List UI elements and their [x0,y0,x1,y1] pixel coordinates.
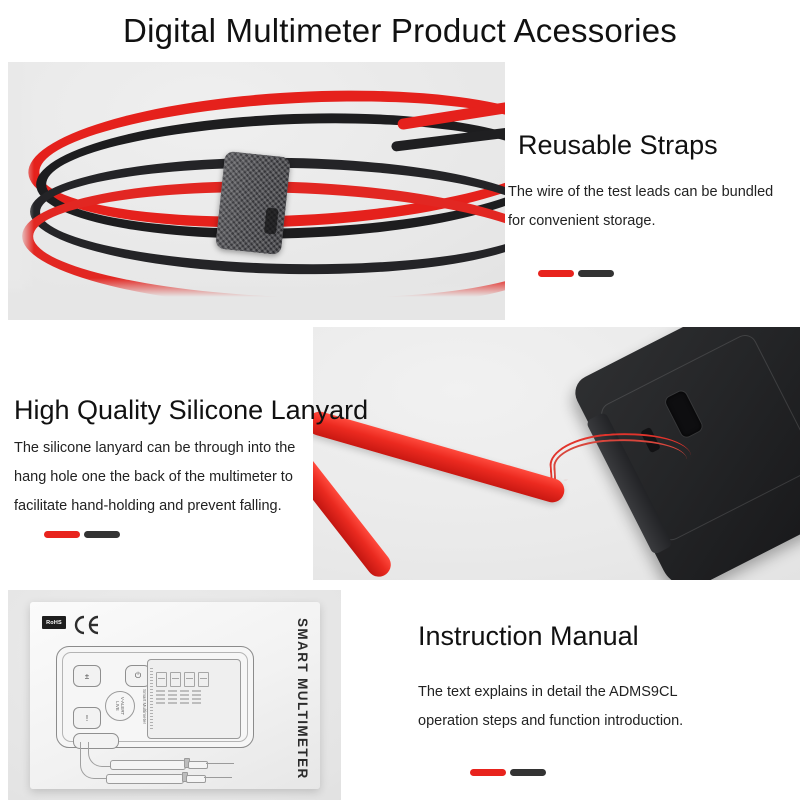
lcd-indicator [180,702,189,704]
body-silicone-lanyard: The silicone lanyard can be through into… [14,434,314,521]
divider-dark-bar [510,769,546,776]
divider-silicone-lanyard [44,531,120,538]
probe-needle-lower [204,777,232,778]
body-line: The wire of the test leads can be bundle… [508,178,798,207]
lcd-indicator [156,694,165,696]
divider-red-bar [44,531,80,538]
body-line: The silicone lanyard can be through into… [14,434,314,463]
lcd-indicator [180,690,189,692]
divider-dark-bar [84,531,120,538]
probe-wire-right [80,742,107,779]
heading-instruction-manual: Instruction Manual [418,619,639,653]
lcd-indicator [168,690,177,692]
lcd-digit [184,672,195,687]
drawing-inner-outline: ± ⏻ ! V-ALERT LIVE Smart Multimeter [62,652,248,742]
body-line: for convenient storage. [508,207,798,236]
product-accessories-page: Digital Multimeter Product Acessories Re… [0,0,800,800]
body-instruction-manual: The text explains in detail the ADMS9CL … [418,678,778,736]
ce-mark-icon [72,614,100,636]
velcro-strap [215,151,291,255]
body-line: operation steps and function introductio… [418,707,778,736]
lcd-indicator [180,694,189,696]
red-silicone-tube-lower [313,449,396,580]
lcd-indicator [192,690,201,692]
photo-bottom-fade [8,278,505,320]
body-line: hang hole one the back of the multimeter… [14,463,314,492]
plus-minus-button-drawing: ± [73,665,101,687]
lcd-indicator [156,698,165,700]
lcd-digit [198,672,209,687]
lcd-indicator [156,702,165,704]
warning-button-drawing: ! [73,707,101,729]
rohs-badge: RoHS [42,616,66,629]
lcd-bargraph-scale [150,668,153,730]
lcd-indicator-row [156,702,201,704]
lcd-indicator-row [156,698,201,700]
lanyard-illustration [313,327,800,580]
body-line: facilitate hand-holding and prevent fall… [14,492,314,521]
multimeter-line-drawing: ± ⏻ ! V-ALERT LIVE Smart Multimeter [56,646,254,748]
body-reusable-straps: The wire of the test leads can be bundle… [508,178,798,236]
lcd-indicator [180,698,189,700]
lcd-indicator [168,694,177,696]
divider-dark-bar [578,270,614,277]
lcd-digit [156,672,167,687]
heading-silicone-lanyard: High Quality Silicone Lanyard [14,393,368,427]
lcd-indicator [192,702,201,704]
live-alert-button-drawing: V-ALERT LIVE [105,691,135,721]
probe-needle-upper [206,763,234,764]
lcd-indicator-rows [156,690,201,704]
page-title: Digital Multimeter Product Acessories [0,8,800,54]
cable-bundle-illustration [8,62,505,320]
manual-cover: RoHS SMART MULTIMETER ± ⏻ ! V-ALERT LIVE… [30,602,320,789]
lcd-digit [170,672,181,687]
test-probe-lower [106,774,184,784]
divider-red-bar [470,769,506,776]
lcd-indicator [192,698,201,700]
photo-instruction-manual: RoHS SMART MULTIMETER ± ⏻ ! V-ALERT LIVE… [8,590,341,800]
lcd-indicator-row [156,694,201,696]
lcd-indicator [192,694,201,696]
manual-cover-title: SMART MULTIMETER [295,618,310,780]
lcd-indicator [168,698,177,700]
divider-reusable-straps [538,270,614,277]
photo-silicone-lanyard [313,327,800,580]
divider-instruction-manual [470,769,546,776]
probe-tip-body-upper [188,761,208,769]
divider-red-bar [538,270,574,277]
lcd-screen-drawing [147,659,241,739]
body-line: The text explains in detail the ADMS9CL [418,678,778,707]
photo-reusable-straps [8,62,505,320]
test-probe-upper [110,760,186,770]
probe-tip-body-lower [186,775,206,783]
lcd-indicator-row [156,690,201,692]
lcd-indicator [156,690,165,692]
lcd-digits [156,672,209,687]
heading-reusable-straps: Reusable Straps [518,128,718,162]
lcd-indicator [168,702,177,704]
